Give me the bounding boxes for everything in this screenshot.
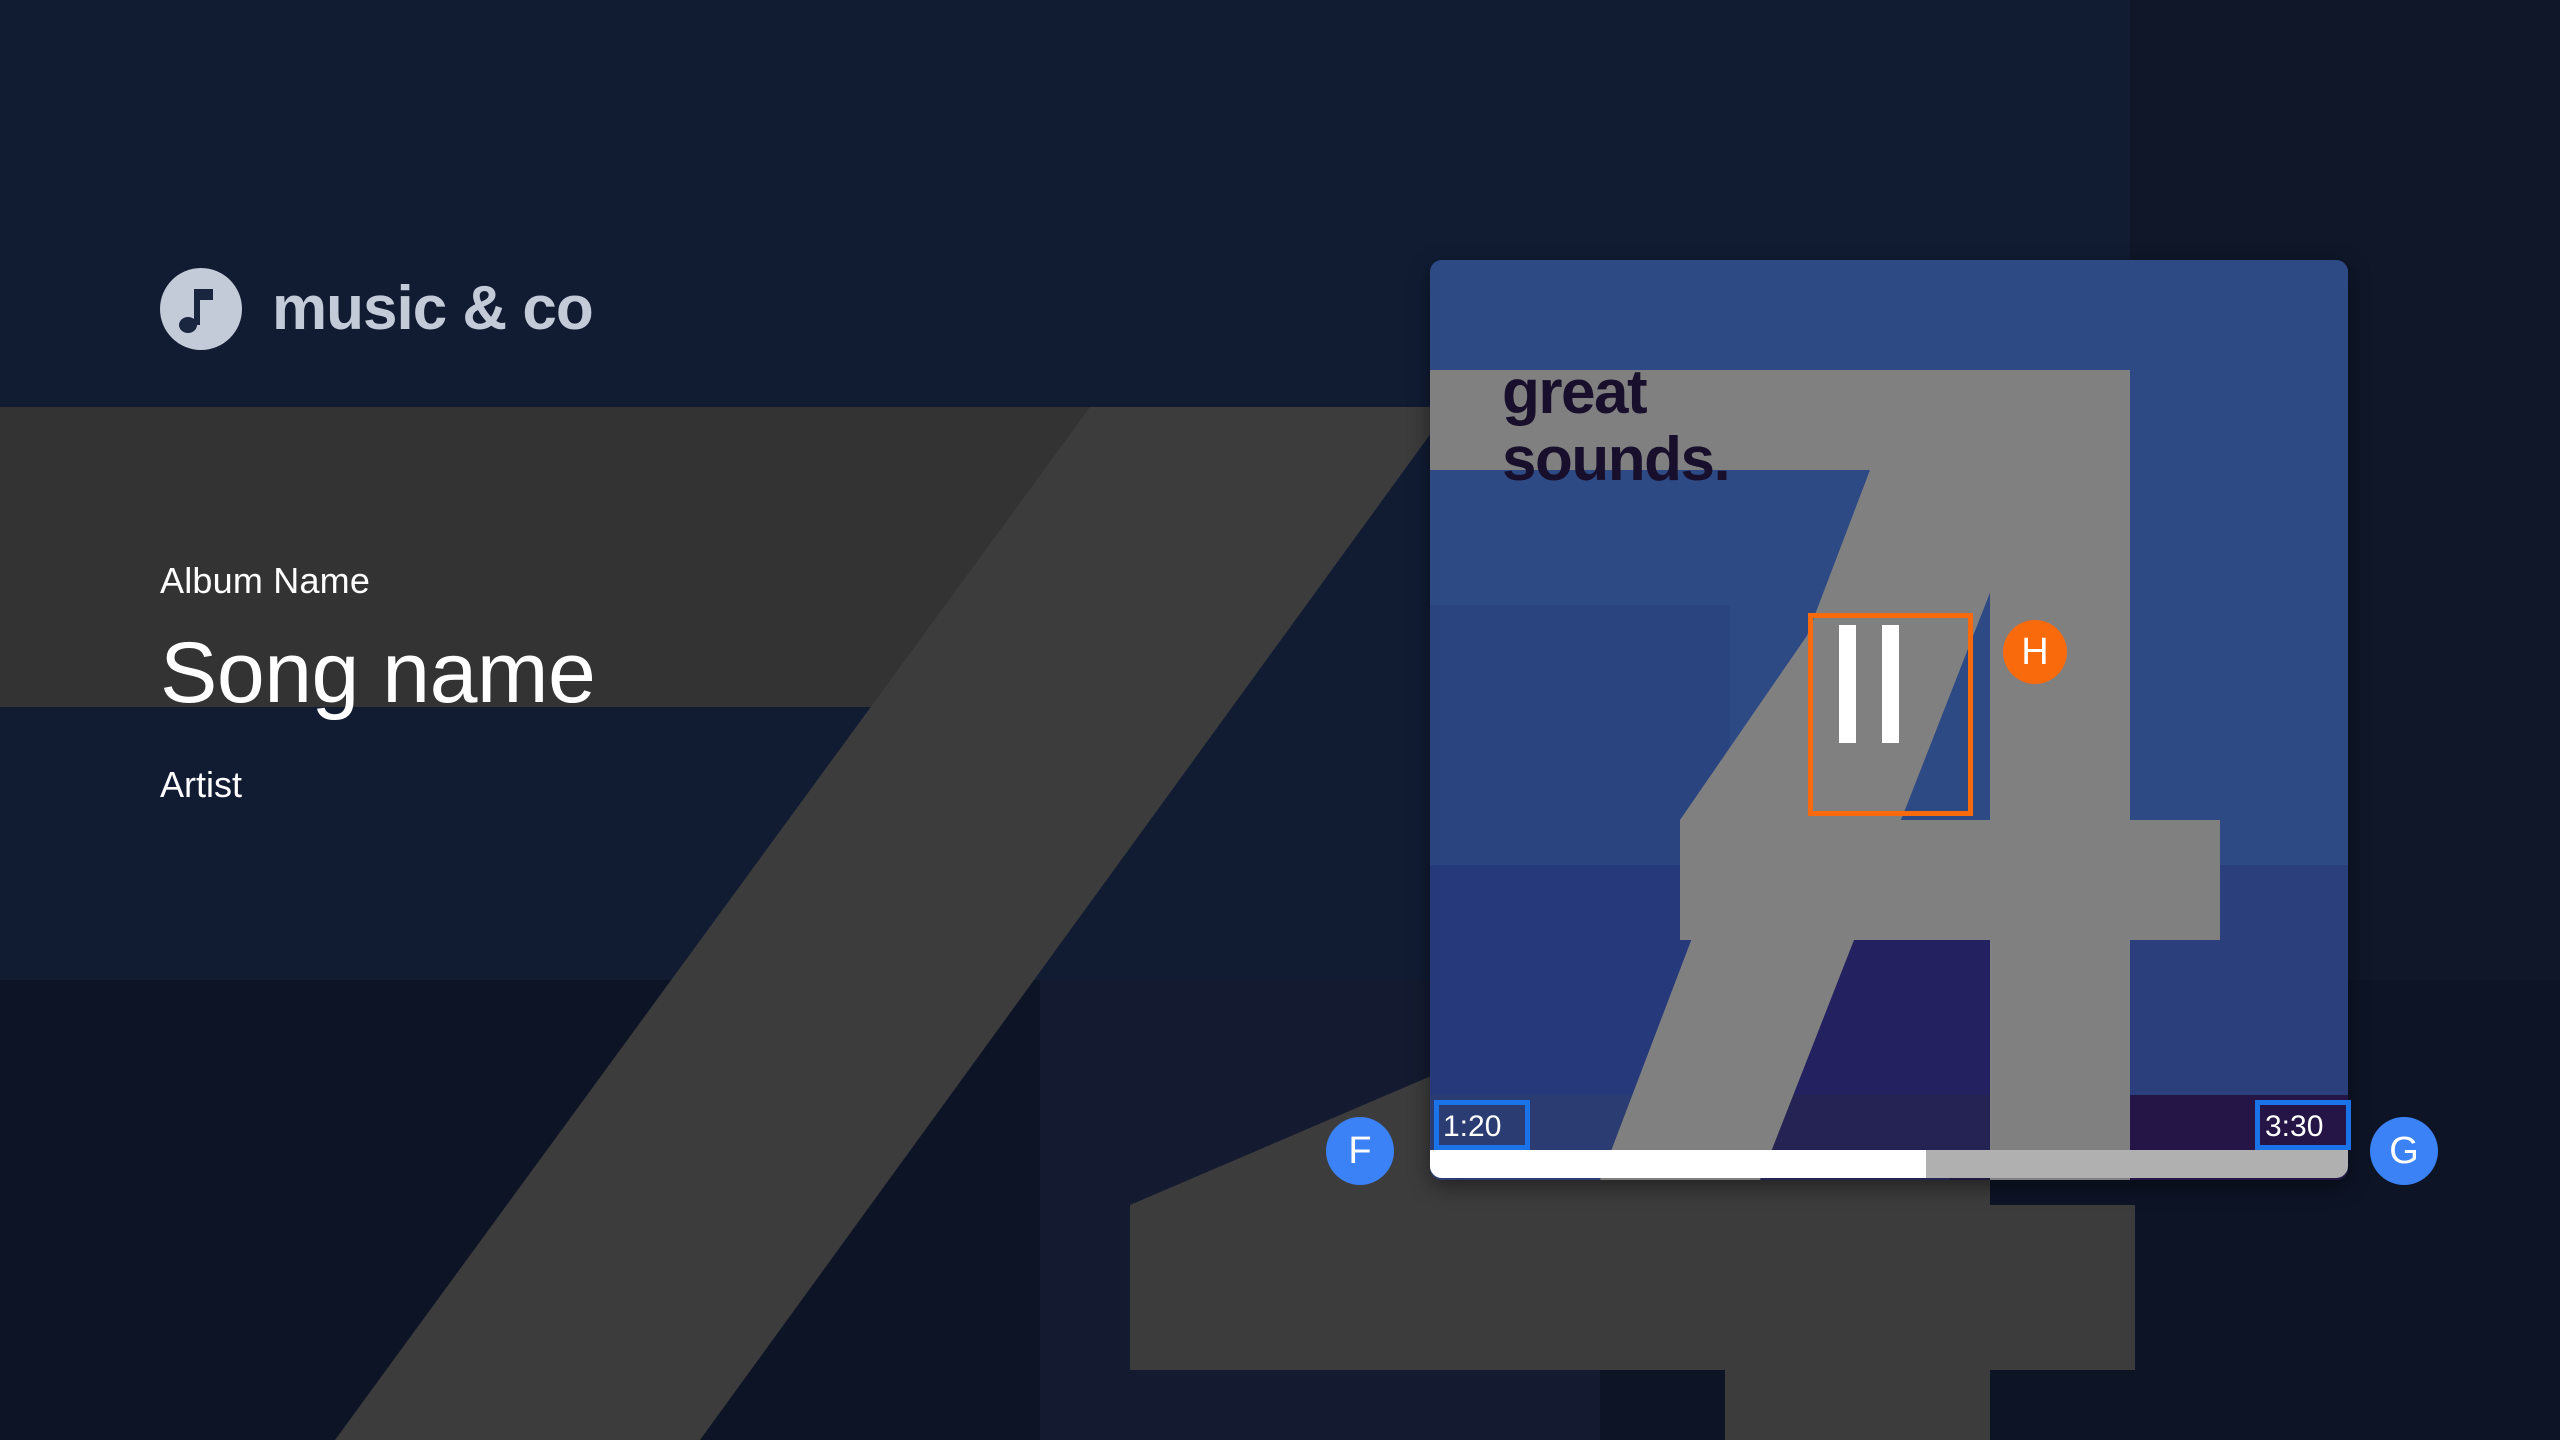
progress-bar[interactable]: [1430, 1150, 2348, 1178]
tagline-line-1: great: [1502, 360, 1729, 427]
annotation-badge-g: G: [2370, 1117, 2438, 1185]
total-time-label: 3:30: [2265, 1110, 2323, 1144]
tagline-line-2: sounds.: [1502, 427, 1729, 494]
pause-icon: [1882, 625, 1899, 743]
progress-fill: [1430, 1150, 1926, 1178]
now-playing-info: Album Name Song name Artist: [160, 560, 1060, 806]
brand-name: music & co: [272, 278, 593, 340]
music-player-screen: music & co Album Name Song name Artist g…: [0, 0, 2560, 1440]
music-note-icon: [160, 268, 242, 350]
song-title: Song name: [160, 628, 1060, 718]
artist-name: Artist: [160, 764, 1060, 806]
album-name: Album Name: [160, 560, 1060, 602]
current-time-label: 1:20: [1443, 1110, 1501, 1144]
pause-icon: [1839, 625, 1856, 743]
album-art-tagline: great sounds.: [1502, 360, 1729, 494]
annotation-badge-f: F: [1326, 1117, 1394, 1185]
brand-header[interactable]: music & co: [160, 268, 593, 350]
pause-button[interactable]: [1823, 620, 1915, 748]
annotation-badge-h: H: [2003, 620, 2067, 684]
